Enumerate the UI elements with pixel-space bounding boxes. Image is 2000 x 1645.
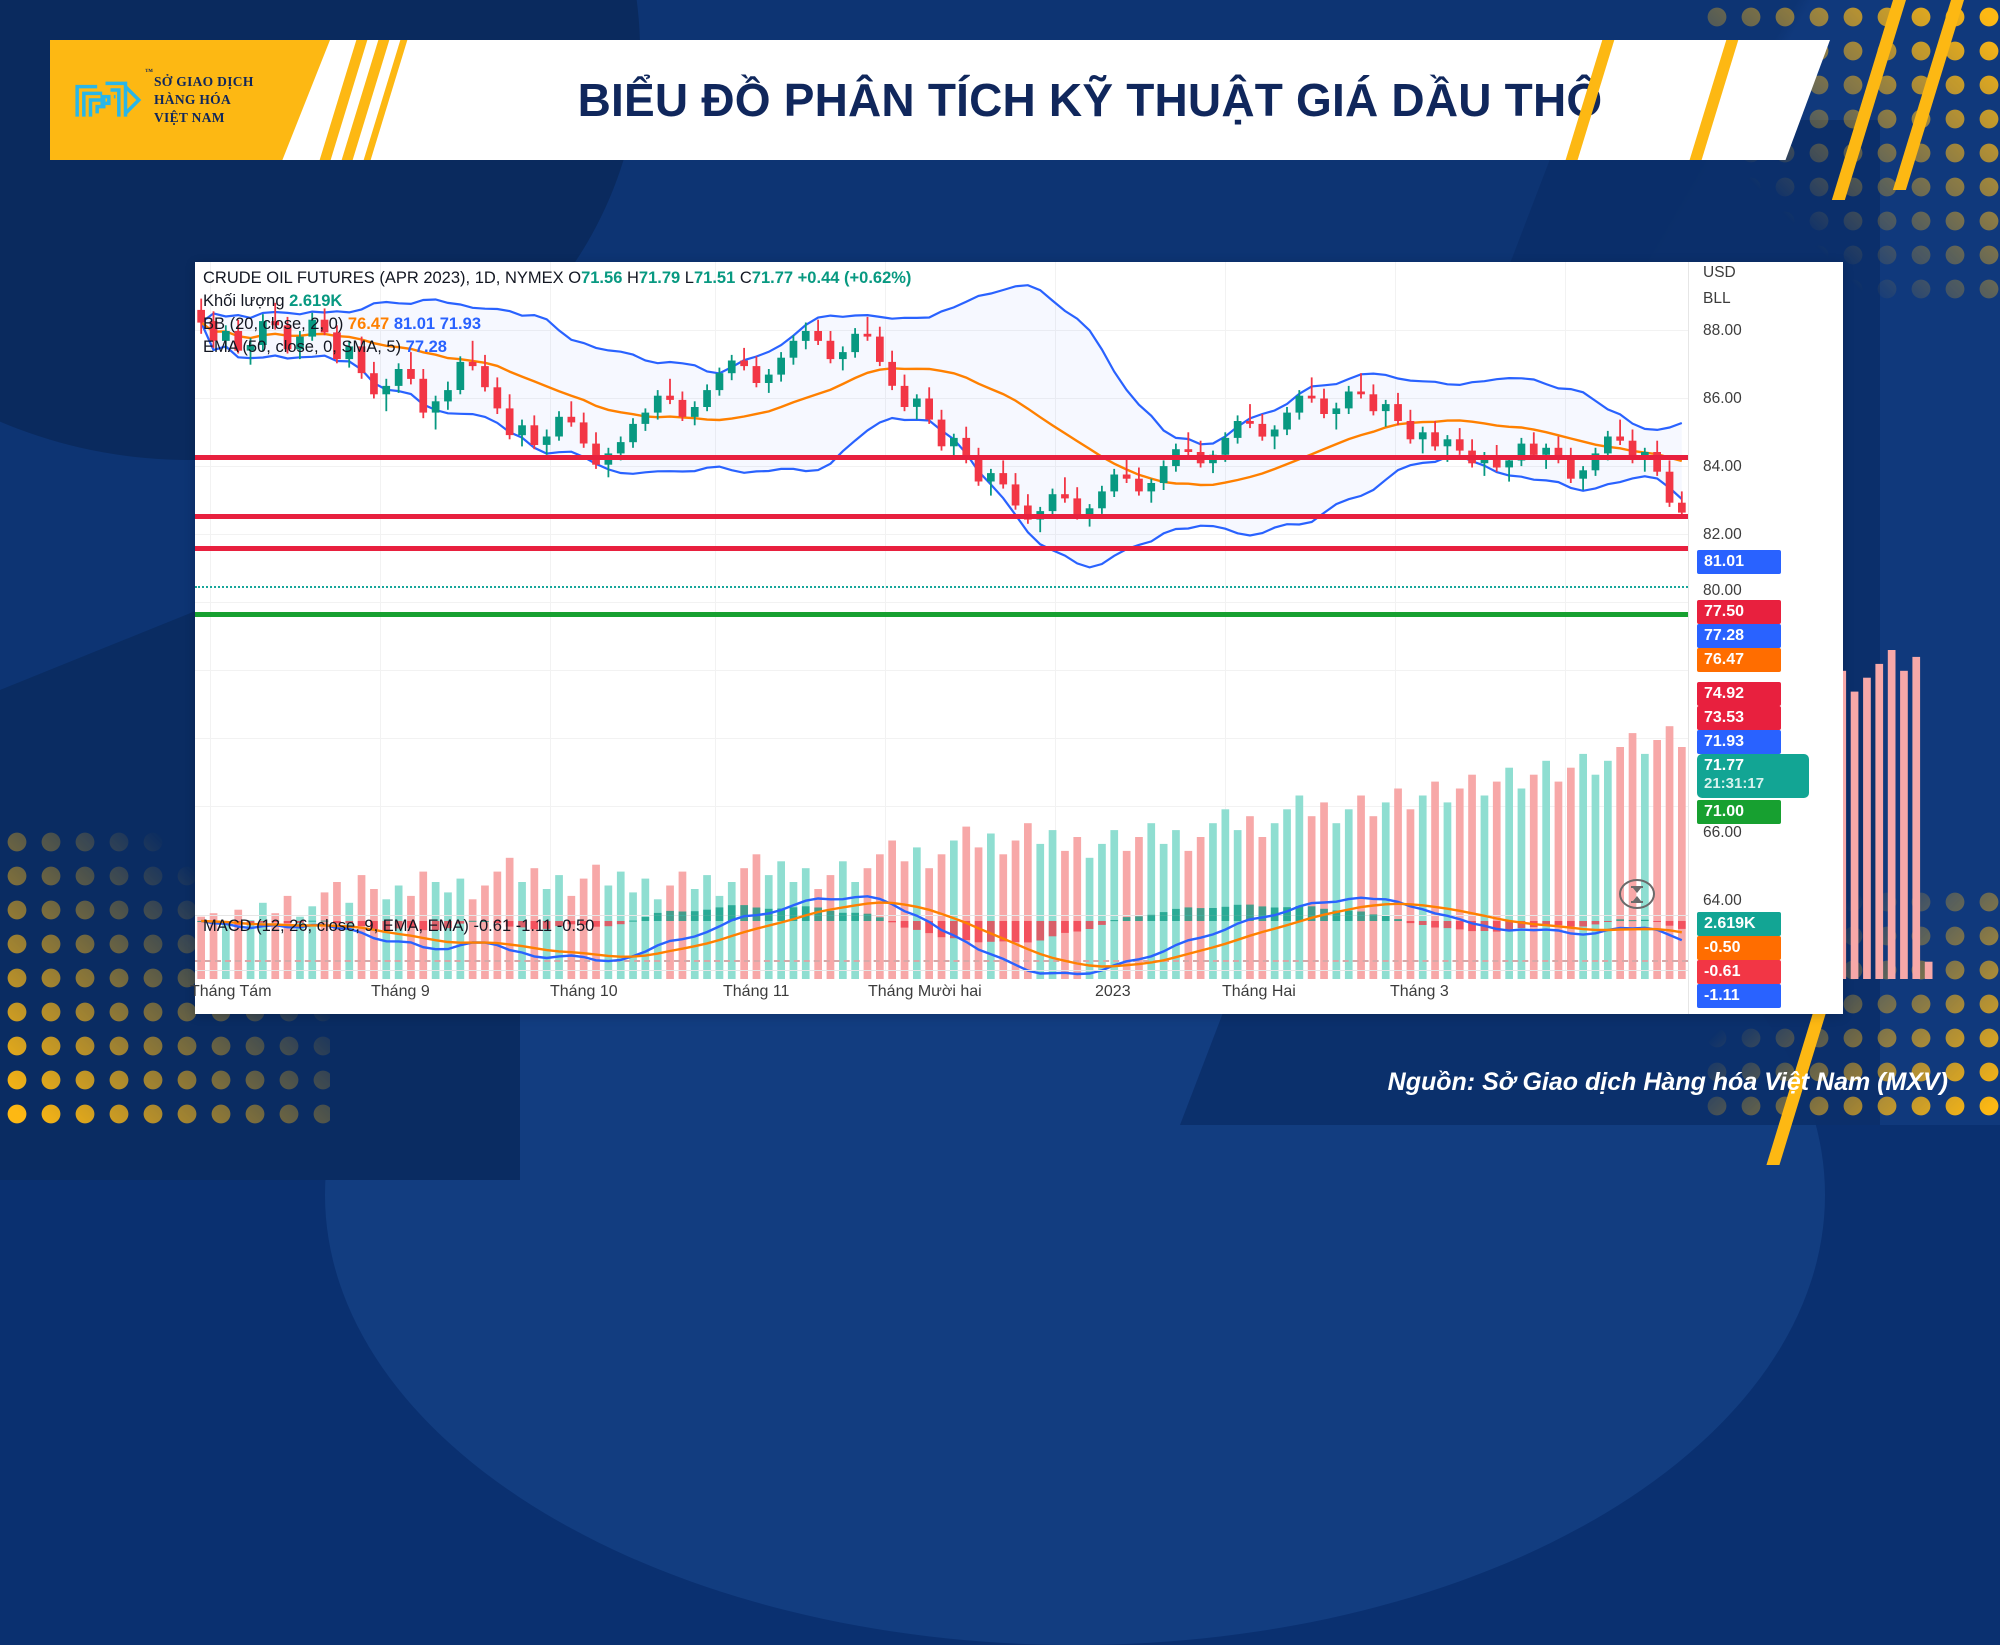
time-label-5: 2023 [1095,983,1131,1001]
source-note: Nguồn: Sở Giao dịch Hàng hóa Việt Nam (M… [1388,1068,1948,1097]
price-axis[interactable]: USD BLL 88.00 86.00 84.00 82.00 80.00 68… [1688,262,1843,1014]
indicator-tag-volume[interactable]: 2.619K [1697,912,1781,936]
legend-volume-value: 2.619K [289,292,342,310]
axis-tick-86: 86.00 [1703,390,1742,408]
legend-close-label: C [740,269,752,287]
indicator-tag-macd-line[interactable]: -1.11 [1697,984,1781,1008]
indicator-tag-macd-hist[interactable]: -0.61 [1697,960,1781,984]
time-label-2: Tháng 10 [550,983,618,1001]
legend-volume-label: Khối lượng [203,292,285,310]
last-price-line [195,586,1688,588]
hourglass-glyph [1630,886,1644,903]
time-label-7: Tháng 3 [1390,983,1449,1001]
price-tag-support-1[interactable]: 71.00 [1697,800,1781,824]
indicator-tag-macd-signal[interactable]: -0.50 [1697,936,1781,960]
resistance-line-74-92 [195,514,1688,519]
legend-row-bb[interactable]: BB (20, close, 2, 0) 76.47 81.01 71.93 [203,313,911,336]
hourglass-icon[interactable] [1619,879,1655,909]
price-tag-resistance-3[interactable]: 73.53 [1697,706,1781,730]
page-title: BIỂU ĐỒ PHÂN TÍCH KỸ THUẬT GIÁ DẦU THÔ [470,40,1710,160]
time-label-1: Tháng 9 [371,983,430,1001]
macd-legend-macd: -1.11 [516,917,552,935]
axis-tick-82: 82.00 [1703,526,1742,544]
legend-symbol: CRUDE OIL FUTURES (APR 2023), 1D, NYMEX [203,269,564,287]
legend-row-volume[interactable]: Khối lượng 2.619K [203,290,911,313]
legend-high-label: H [627,269,639,287]
resistance-line-77-50 [195,455,1688,460]
price-tag-bb-upper[interactable]: 81.01 [1697,550,1781,574]
legend-open-label: O [568,269,581,287]
last-price-countdown: 21:31:17 [1704,775,1802,792]
legend-high: 71.79 [639,269,680,287]
legend-bb-basis: 76.47 [348,315,389,333]
chart-plot-area[interactable]: CRUDE OIL FUTURES (APR 2023), 1D, NYMEX … [195,262,1843,1014]
legend-bb-upper: 81.01 [394,315,435,333]
macd-legend-hist: -0.61 [474,917,512,935]
header-banner: ™ SỞ GIAO DỊCH HÀNG HÓA VIỆT NAM BIỂU ĐỒ… [50,40,1830,160]
chart-legend: CRUDE OIL FUTURES (APR 2023), 1D, NYMEX … [203,267,911,359]
legend-bb-label: BB (20, close, 2, 0) [203,315,343,333]
brand-logo: ™ SỞ GIAO DỊCH HÀNG HÓA VIỆT NAM [50,40,330,160]
header-accent-slashes [334,40,454,160]
trademark-symbol: ™ [145,67,153,78]
brand-logo-text: ™ SỞ GIAO DỊCH HÀNG HÓA VIỆT NAM [154,73,254,126]
mxv-maze-logo-icon [72,70,144,130]
axis-tick-bll: BLL [1703,290,1731,308]
brand-line-1: SỞ GIAO DỊCH [154,73,254,91]
legend-change: +0.44 (+0.62%) [798,269,912,287]
legend-low: 71.51 [694,269,735,287]
price-tag-last-price[interactable]: 71.77 21:31:17 [1697,754,1809,798]
axis-tick-usd: USD [1703,264,1736,282]
support-line-71-00 [195,612,1688,617]
time-label-6: Tháng Hai [1222,983,1296,1001]
axis-tick-64: 64.00 [1703,892,1742,910]
legend-open: 71.56 [581,269,622,287]
price-tag-resistance-1[interactable]: 77.50 [1697,600,1781,624]
price-tag-resistance-2[interactable]: 74.92 [1697,682,1781,706]
time-label-4: Tháng Mười hai [868,983,982,1001]
macd-legend-label: MACD (12, 26, close, 9, EMA, EMA) [203,917,469,935]
legend-close: 71.77 [752,269,793,287]
macd-legend[interactable]: MACD (12, 26, close, 9, EMA, EMA) -0.61 … [203,917,594,936]
time-label-3: Tháng 11 [723,983,789,1001]
tradingview-chart-panel[interactable]: CRUDE OIL FUTURES (APR 2023), 1D, NYMEX … [195,262,1843,1014]
time-axis[interactable]: Tháng Tám Tháng 9 Tháng 10 Tháng 11 Thán… [195,970,1688,1014]
last-price-value: 71.77 [1704,757,1744,774]
legend-bb-lower: 71.93 [440,315,481,333]
axis-tick-84: 84.00 [1703,458,1742,476]
axis-tick-66: 66.00 [1703,824,1742,842]
brand-line-3: VIỆT NAM [154,109,254,127]
price-tag-ema[interactable]: 77.28 [1697,624,1781,648]
price-tag-bb-lower[interactable]: 71.93 [1697,730,1781,754]
axis-tick-88: 88.00 [1703,322,1742,340]
brand-line-2: HÀNG HÓA [154,91,254,109]
time-label-0: Tháng Tám [190,983,272,1001]
legend-ema-value: 77.28 [406,338,447,356]
price-tag-bb-basis[interactable]: 76.47 [1697,648,1781,672]
legend-row-symbol[interactable]: CRUDE OIL FUTURES (APR 2023), 1D, NYMEX … [203,267,911,290]
macd-legend-signal: -0.50 [557,917,595,935]
legend-ema-label: EMA (50, close, 0, SMA, 5) [203,338,401,356]
legend-row-ema[interactable]: EMA (50, close, 0, SMA, 5) 77.28 [203,336,911,359]
legend-low-label: L [685,269,694,287]
resistance-line-73-53 [195,546,1688,551]
axis-tick-80: 80.00 [1703,582,1742,600]
